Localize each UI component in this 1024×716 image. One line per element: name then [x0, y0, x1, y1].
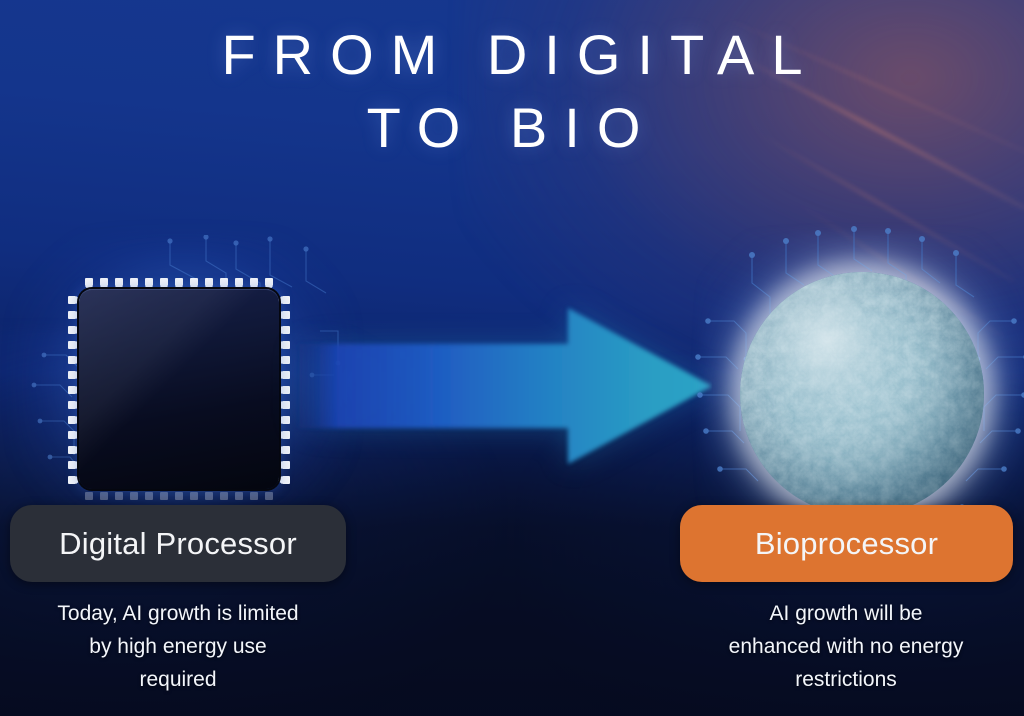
page-title: FROM DIGITAL TO BIO: [0, 18, 1024, 164]
digital-processor-label-pill[interactable]: Digital Processor: [10, 505, 346, 582]
organoid-texture: [740, 272, 984, 516]
transition-arrow-icon: [296, 300, 712, 472]
bioprocessor-label-pill[interactable]: Bioprocessor: [680, 505, 1013, 582]
chip-die-surface: [79, 289, 279, 489]
bioprocessor-caption: AI growth will be enhanced with no energ…: [676, 597, 1016, 696]
slide-root: FROM DIGITAL TO BIO: [0, 0, 1024, 716]
digital-processor-caption: Today, AI growth is limited by high ener…: [8, 597, 348, 696]
bioprocessor-organoid-icon: [740, 272, 984, 516]
digital-processor-chip-icon: [68, 278, 290, 500]
